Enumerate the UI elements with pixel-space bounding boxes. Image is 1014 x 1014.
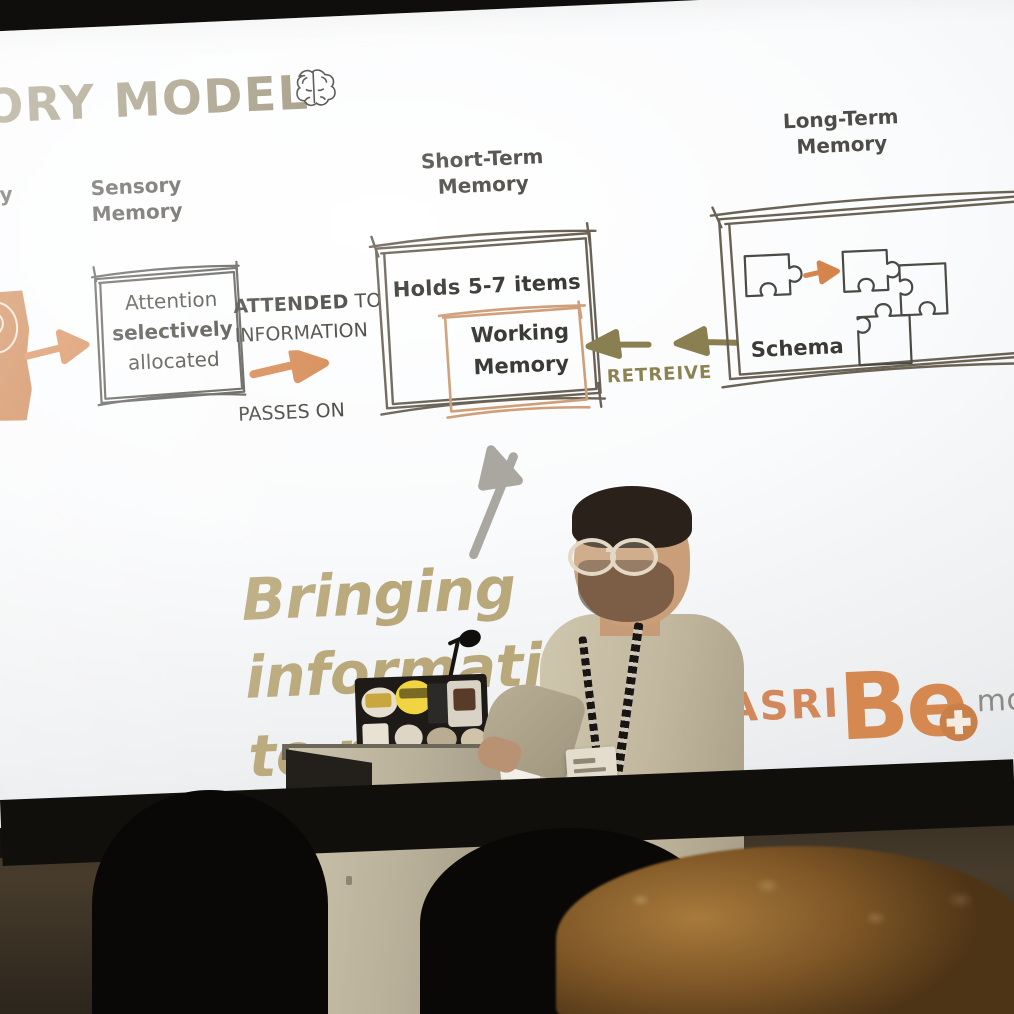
plus-icon — [939, 702, 979, 742]
puzzle-cluster-icon — [843, 249, 901, 291]
page-title: EMORY MODEL — [0, 65, 310, 138]
attended-to-information-connector: ATTENDED TO INFORMATION — [233, 286, 385, 351]
puzzle-piece-icon — [745, 254, 803, 296]
retrieve-label: RETREIVE — [606, 362, 712, 388]
sensory-memory-heading: Sensory Memory — [60, 170, 212, 229]
working-memory-label: Working Memory — [449, 315, 592, 384]
projection-screen: EMORY MODEL Sensory Input — [0, 0, 1014, 833]
slide-content: EMORY MODEL Sensory Input — [0, 0, 1014, 833]
long-term-memory-heading: Long-Term Memory — [740, 101, 942, 163]
arrow-sensory-to-attention-icon — [23, 327, 97, 372]
arrow-up-pointer-icon — [455, 440, 532, 561]
sensory-memory-box-text: Attention selectively allocated — [98, 283, 248, 379]
passes-on-line: PASSES ON — [238, 399, 346, 426]
schema-puzzle-diagram — [736, 227, 992, 378]
attended-strong: ATTENDED — [233, 291, 349, 318]
arrow-passes-on-icon — [248, 349, 333, 387]
passes-on-line-wrap: PASSES ON — [238, 394, 389, 430]
presentation-photo: EMORY MODEL Sensory Input — [0, 0, 1014, 1014]
brain-icon — [283, 58, 349, 115]
information-line: INFORMATION — [234, 320, 368, 348]
attention-line: Attention — [124, 287, 217, 315]
short-term-memory-heading: Short-Term Memory — [392, 142, 574, 203]
allocated-line: allocated — [127, 347, 220, 375]
logo-asri-text: ASRI — [726, 680, 841, 731]
selectively-line: selectively — [112, 316, 234, 345]
logo-more-text: more — [976, 681, 1014, 720]
sensory-input-heading: Sensory Input — [0, 180, 39, 239]
